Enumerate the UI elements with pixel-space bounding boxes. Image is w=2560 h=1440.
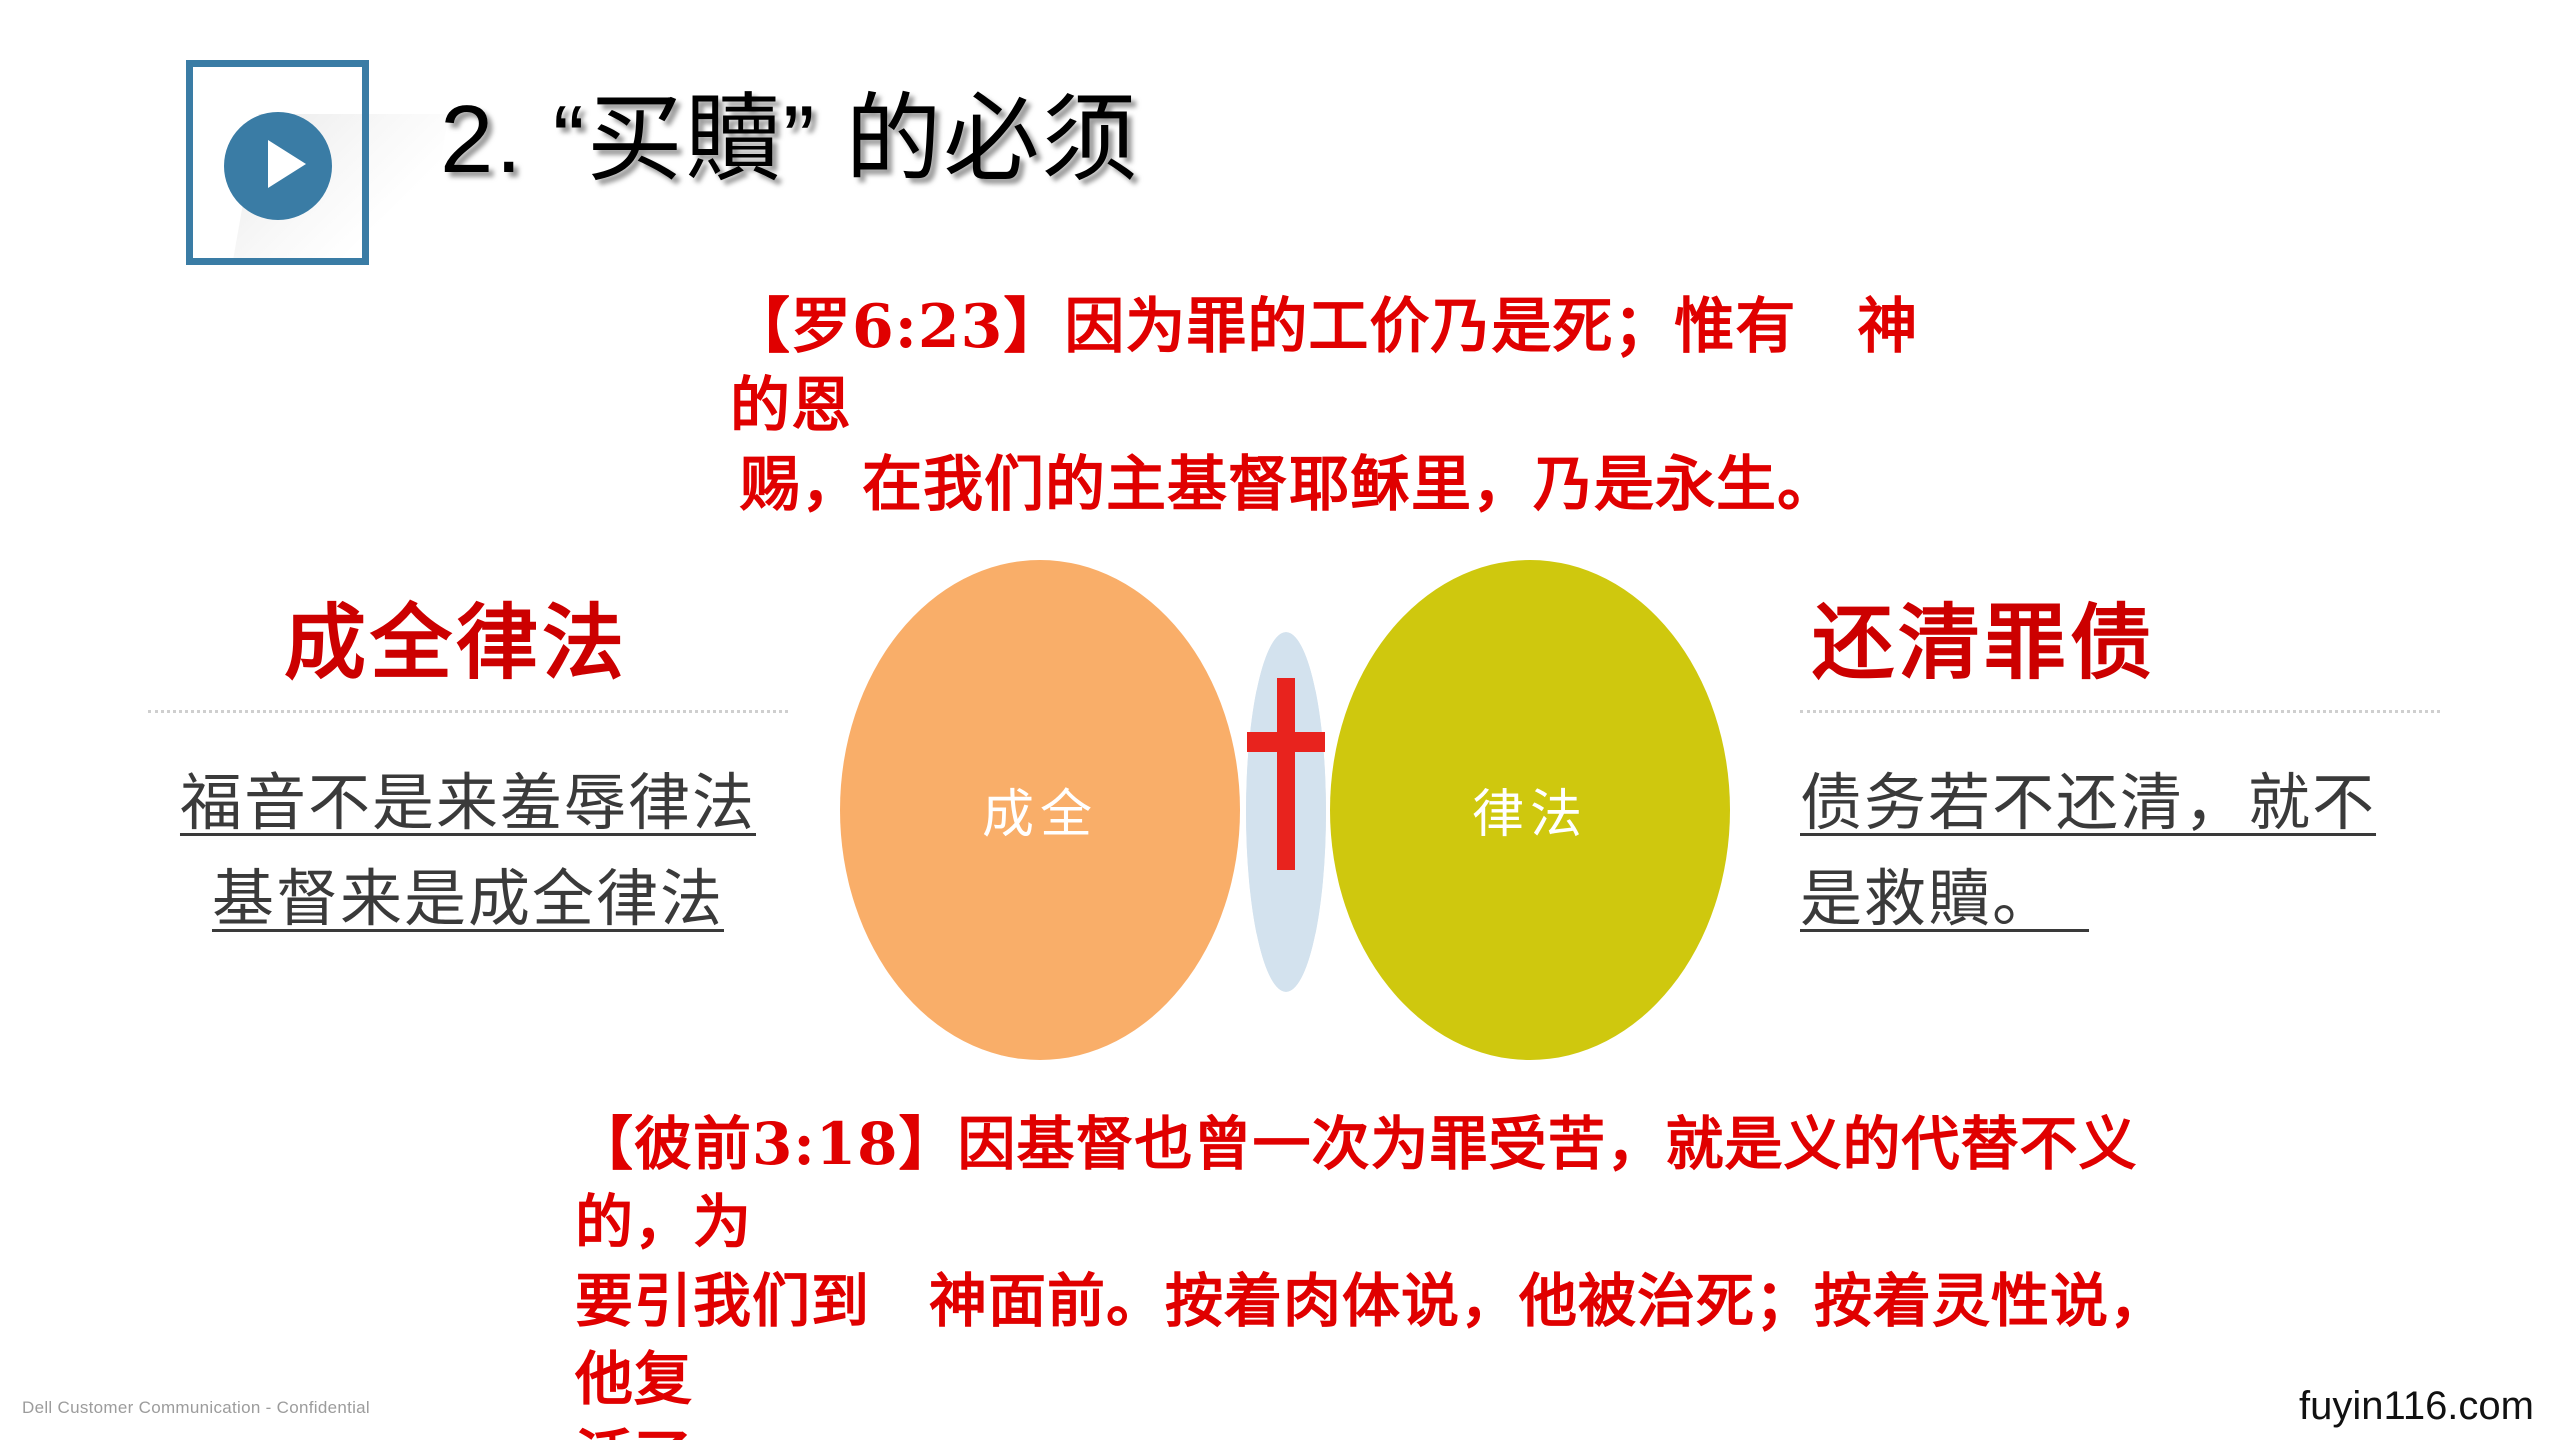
venn-label-left: 成全 xyxy=(840,772,1266,847)
play-triangle-icon xyxy=(268,140,306,188)
scripture-line: 【彼前3:18】因基督也曾一次为罪受苦，就是义的代替不义的，为 xyxy=(575,1110,2137,1256)
footer-watermark: fuyin116.com xyxy=(2299,1384,2534,1429)
column-right-heading: 还清罪债 xyxy=(1800,598,2440,688)
scripture-verse-1peter: 【彼前3:18】因基督也曾一次为罪受苦，就是义的代替不义的，为 要引我们到 神面… xyxy=(575,1105,2215,1440)
column-right-body-line: 是救贖。 xyxy=(1800,862,2089,935)
cross-icon-horizontal xyxy=(1247,732,1325,752)
title-block: 2. “买贖” 的必须 xyxy=(0,0,2560,260)
venn-diagram: 成全 律法 xyxy=(840,560,1730,1060)
column-left-body-line: 福音不是来羞辱律法 xyxy=(180,766,756,839)
scripture-verse-romans: 【罗6:23】因为罪的工价乃是死；惟有 神的恩 赐，在我们的主基督耶稣里，乃是永… xyxy=(730,288,1930,526)
scripture-line: 赐，在我们的主基督耶稣里，乃是永生。 xyxy=(730,446,1930,525)
scripture-line: 活了。 xyxy=(575,1418,2215,1440)
column-left-divider xyxy=(148,710,788,713)
column-left-body: 福音不是来羞辱律法 基督来是成全律法 xyxy=(148,755,788,947)
column-right-body-line: 债务若不还清，就不 xyxy=(1800,766,2376,839)
column-left-body-line: 基督来是成全律法 xyxy=(212,862,724,935)
column-right-divider xyxy=(1800,710,2440,713)
venn-label-right: 律法 xyxy=(1312,772,1730,847)
logo-mark xyxy=(186,44,386,259)
column-left: 成全律法 福音不是来羞辱律法 基督来是成全律法 xyxy=(148,598,788,947)
footer-confidentiality-notice: Dell Customer Communication - Confidenti… xyxy=(22,1398,370,1418)
scripture-line: 【罗6:23】因为罪的工价乃是死；惟有 神的恩 xyxy=(730,292,1918,441)
column-right: 还清罪债 债务若不还清，就不 是救贖。 xyxy=(1800,598,2440,947)
column-left-heading: 成全律法 xyxy=(148,598,788,688)
page-title: 2. “买贖” 的必须 xyxy=(440,86,1139,194)
slide-canvas: 2. “买贖” 的必须 【罗6:23】因为罪的工价乃是死；惟有 神的恩 赐，在我… xyxy=(0,0,2560,1440)
column-right-body: 债务若不还清，就不 是救贖。 xyxy=(1800,755,2440,947)
scripture-line: 要引我们到 神面前。按着肉体说，他被治死；按着灵性说，他复 xyxy=(575,1262,2215,1419)
cross-icon-vertical xyxy=(1277,678,1295,870)
